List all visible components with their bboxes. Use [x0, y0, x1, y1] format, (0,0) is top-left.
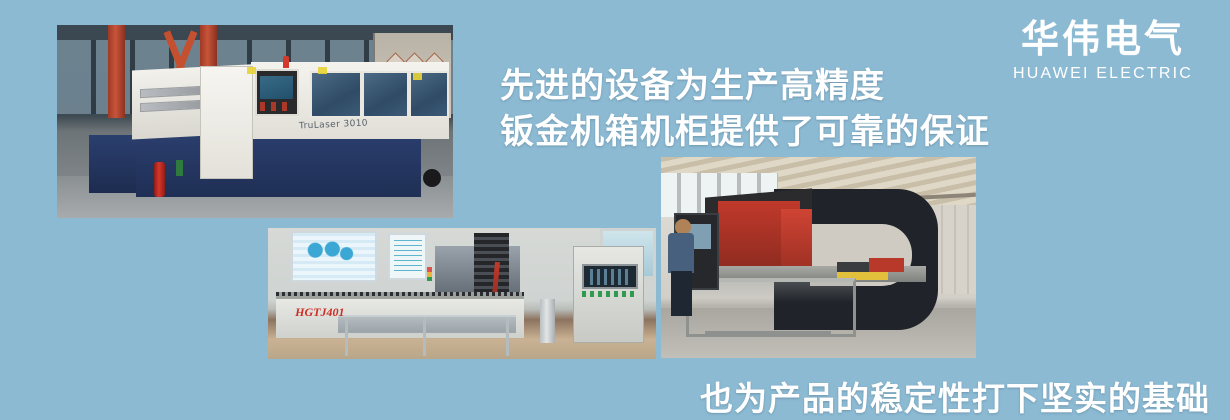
laser-scene: TruLaser 3010: [57, 25, 453, 218]
photo-cnc-cutting-machine: HGTJ401: [268, 228, 656, 359]
warning-sticker-3: [413, 73, 422, 80]
machine-model-label: HGTJ401: [295, 305, 344, 320]
punch-scene: [661, 157, 976, 358]
headline-line-2: 钣金机箱机柜提供了可靠的保证: [500, 104, 990, 153]
logo-english-name: HUAWEI ELECTRIC: [1008, 64, 1198, 84]
control-cabinet: [573, 246, 645, 342]
photo-turret-punch-press: [661, 157, 976, 358]
cable-carrier: [474, 233, 509, 293]
work-table: [338, 315, 516, 356]
access-door: [200, 66, 253, 180]
warning-sticker-1: [247, 67, 256, 74]
window-pane-2: [362, 71, 410, 117]
wall-poster-text: [388, 233, 427, 280]
window-pane-1: [310, 71, 362, 117]
green-box: [176, 160, 183, 176]
red-ram-housing: [781, 209, 813, 273]
control-panel: [255, 69, 299, 115]
signal-beacon: [283, 56, 289, 68]
wall-poster-chart: [291, 231, 376, 282]
bottom-tagline: 也为产品的稳定性打下坚实的基础: [700, 372, 1210, 420]
cnc-scene: HGTJ401: [268, 228, 656, 359]
material-cart: [705, 331, 831, 354]
photo-laser-cutting-machine: TruLaser 3010: [57, 25, 453, 218]
promo-banner: TruLaser 3010 HGTJ401: [0, 0, 1230, 420]
machine-operator: [667, 219, 695, 315]
warning-sticker-2: [318, 67, 327, 74]
fire-extinguisher: [154, 162, 165, 197]
red-module: [869, 258, 904, 272]
status-tower-light: [427, 267, 432, 281]
company-logo[interactable]: 华伟电气 HUAWEI ELECTRIC: [1008, 18, 1198, 84]
logo-chinese-name: 华伟电气: [1008, 18, 1198, 62]
red-pillar-left: [108, 25, 125, 118]
gas-cylinder: [540, 299, 556, 344]
headline-line-1: 先进的设备为生产高精度: [500, 58, 885, 107]
